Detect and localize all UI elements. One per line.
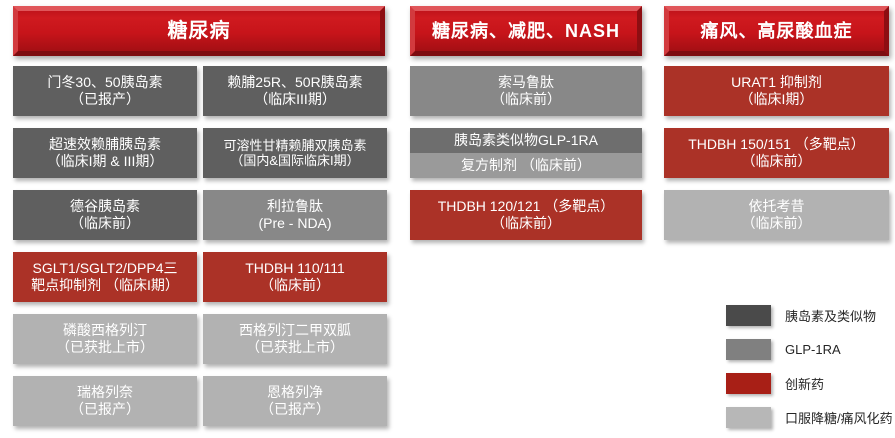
item-line-2: 复方制剂 （临床前） — [461, 157, 591, 174]
item-line-1: 依托考昔 — [749, 198, 805, 215]
item-box[interactable]: 德谷胰岛素 （临床前） — [13, 190, 197, 240]
legend-swatch-oral — [726, 407, 771, 428]
item-line-2: （临床III期） — [254, 91, 336, 108]
item-line-2: （临床前） — [70, 215, 140, 232]
item-line-1: 利拉鲁肽 — [267, 198, 323, 215]
item-line-1: SGLT1/SGLT2/DPP4三 — [33, 260, 178, 277]
legend-label-innovative: 创新药 — [785, 374, 824, 393]
banner-gout: 痛风、高尿酸血症 — [664, 6, 889, 56]
item-half-combination: 复方制剂 （临床前） — [410, 153, 642, 178]
banner-gout-label: 痛风、高尿酸血症 — [701, 22, 853, 40]
item-line-2: (Pre - NDA) — [258, 215, 331, 232]
item-box[interactable]: 恩格列净 （已报产） — [203, 376, 387, 426]
legend-swatch-insulin — [726, 305, 771, 326]
legend-swatch-glp1ra — [726, 339, 771, 360]
item-line-1: 瑞格列奈 — [77, 384, 133, 401]
legend-label-insulin: 胰岛素及类似物 — [785, 306, 876, 325]
item-line-2: （国内&国际临床I期） — [230, 153, 359, 168]
item-box-combination[interactable]: 胰岛素类似物GLP-1RA 复方制剂 （临床前） — [410, 128, 642, 178]
item-box[interactable]: 利拉鲁肽 (Pre - NDA) — [203, 190, 387, 240]
item-line-2: （临床I期） — [740, 91, 814, 108]
item-box[interactable]: 依托考昔 （临床前） — [664, 190, 889, 240]
item-line-2: 靶点抑制剂 （临床I期） — [31, 277, 179, 294]
banner-diabetes: 糖尿病 — [13, 6, 385, 56]
item-line-1: THDBH 120/121 （多靶点） — [438, 198, 615, 215]
item-line-1: 超速效赖脯胰岛素 — [49, 136, 161, 153]
pipeline-diagram: 糖尿病 糖尿病、减肥、NASH 痛风、高尿酸血症 门冬30、50胰岛素 （已报产… — [0, 0, 895, 438]
item-line-1: 门冬30、50胰岛素 — [47, 74, 162, 91]
item-line-2: （已报产） — [70, 91, 140, 108]
legend-swatch-innovative — [726, 373, 771, 394]
item-box[interactable]: SGLT1/SGLT2/DPP4三 靶点抑制剂 （临床I期） — [13, 252, 197, 302]
item-line-1: URAT1 抑制剂 — [731, 74, 822, 91]
item-line-1: 德谷胰岛素 — [70, 198, 140, 215]
item-line-1: THDBH 150/151 （多靶点） — [688, 136, 865, 153]
item-box[interactable]: 超速效赖脯胰岛素 （临床I期 & III期） — [13, 128, 197, 178]
item-line-1: THDBH 110/111 — [245, 260, 345, 277]
item-line-2: （已获批上市） — [56, 339, 154, 356]
banner-diabetes-label: 糖尿病 — [168, 21, 231, 41]
legend-item-insulin: 胰岛素及类似物 — [726, 300, 894, 331]
item-line-1: 胰岛素类似物GLP-1RA — [454, 132, 598, 149]
item-line-2: （已报产） — [70, 401, 140, 418]
item-line-2: （临床前） — [491, 215, 561, 232]
item-box[interactable]: 瑞格列奈 （已报产） — [13, 376, 197, 426]
legend-item-glp1ra: GLP-1RA — [726, 334, 894, 365]
item-line-1: 索马鲁肽 — [498, 74, 554, 91]
item-box[interactable]: THDBH 120/121 （多靶点） （临床前） — [410, 190, 642, 240]
legend-label-glp1ra: GLP-1RA — [785, 342, 841, 357]
item-line-1: 西格列汀二甲双胍 — [239, 322, 351, 339]
item-line-2: （临床前） — [260, 277, 330, 294]
item-box[interactable]: URAT1 抑制剂 （临床I期） — [664, 66, 889, 116]
item-box[interactable]: THDBH 150/151 （多靶点） （临床前） — [664, 128, 889, 178]
legend-item-oral: 口服降糖/痛风化药 — [726, 402, 894, 433]
item-line-2: （临床前） — [742, 153, 812, 170]
item-line-2: （已获批上市） — [246, 339, 344, 356]
item-box[interactable]: 门冬30、50胰岛素 （已报产） — [13, 66, 197, 116]
item-box[interactable]: 磷酸西格列汀 （已获批上市） — [13, 314, 197, 364]
banner-nash: 糖尿病、减肥、NASH — [410, 6, 642, 56]
legend-item-innovative: 创新药 — [726, 368, 894, 399]
item-box[interactable]: THDBH 110/111 （临床前） — [203, 252, 387, 302]
item-box[interactable]: 赖脯25R、50R胰岛素 （临床III期） — [203, 66, 387, 116]
item-box[interactable]: 可溶性甘精赖脯双胰岛素 （国内&国际临床I期） — [203, 128, 387, 178]
item-line-2: （临床I期 & III期） — [47, 153, 164, 170]
item-line-1: 赖脯25R、50R胰岛素 — [227, 74, 362, 91]
banner-nash-label: 糖尿病、减肥、NASH — [432, 22, 620, 40]
legend: 胰岛素及类似物 GLP-1RA 创新药 口服降糖/痛风化药 — [726, 300, 894, 436]
item-line-1: 可溶性甘精赖脯双胰岛素 — [223, 138, 366, 153]
item-line-2: （临床前） — [742, 215, 812, 232]
item-line-1: 磷酸西格列汀 — [63, 322, 147, 339]
item-line-2: （已报产） — [260, 401, 330, 418]
item-box[interactable]: 索马鲁肽 （临床前） — [410, 66, 642, 116]
item-box[interactable]: 西格列汀二甲双胍 （已获批上市） — [203, 314, 387, 364]
item-line-2: （临床前） — [491, 91, 561, 108]
item-half-insulin-analog: 胰岛素类似物GLP-1RA — [410, 128, 642, 153]
legend-label-oral: 口服降糖/痛风化药 — [785, 408, 893, 427]
item-line-1: 恩格列净 — [267, 384, 323, 401]
